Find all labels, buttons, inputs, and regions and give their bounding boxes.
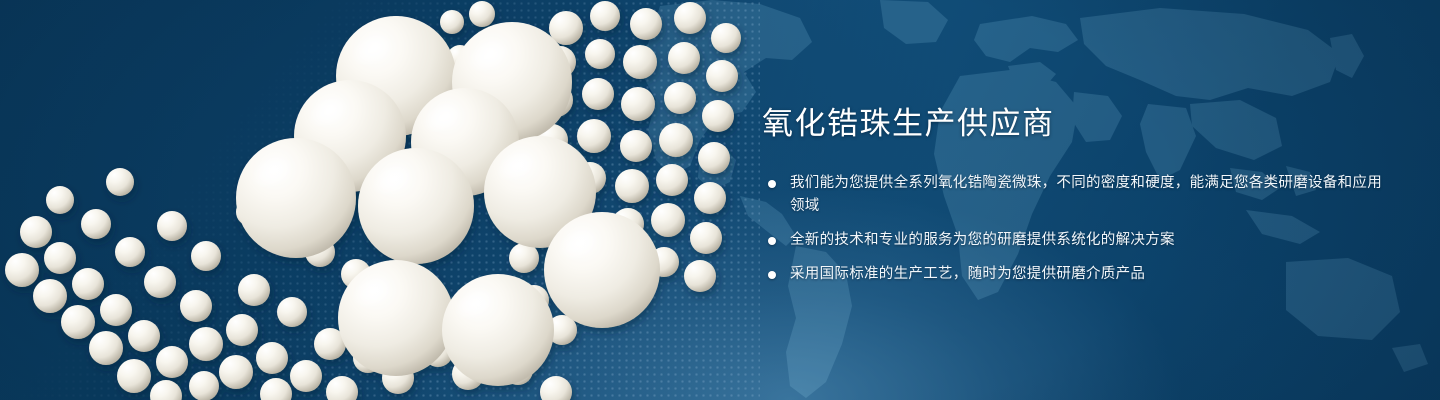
feature-list: 我们能为您提供全系列氧化锆陶瓷微珠，不同的密度和硬度，能满足您各类研磨设备和应用…	[762, 172, 1382, 286]
list-item-label: 我们能为您提供全系列氧化锆陶瓷微珠，不同的密度和硬度，能满足您各类研磨设备和应用…	[790, 175, 1382, 214]
page-title: 氧化锆珠生产供应商	[762, 104, 1382, 144]
list-item: 我们能为您提供全系列氧化锆陶瓷微珠，不同的密度和硬度，能满足您各类研磨设备和应用…	[762, 172, 1382, 218]
banner-copy: 氧化锆珠生产供应商 我们能为您提供全系列氧化锆陶瓷微珠，不同的密度和硬度，能满足…	[762, 104, 1382, 286]
list-item-label: 全新的技术和专业的服务为您的研磨提供系统化的解决方案	[790, 232, 1175, 248]
list-item-label: 采用国际标准的生产工艺，随时为您提供研磨介质产品	[790, 266, 1145, 282]
bullet-dot-icon	[768, 180, 776, 188]
hero-banner: 氧化锆珠生产供应商 我们能为您提供全系列氧化锆陶瓷微珠，不同的密度和硬度，能满足…	[0, 0, 1440, 400]
bullet-dot-icon	[768, 237, 776, 245]
bullet-dot-icon	[768, 271, 776, 279]
list-item: 全新的技术和专业的服务为您的研磨提供系统化的解决方案	[762, 229, 1382, 252]
list-item: 采用国际标准的生产工艺，随时为您提供研磨介质产品	[762, 263, 1382, 286]
